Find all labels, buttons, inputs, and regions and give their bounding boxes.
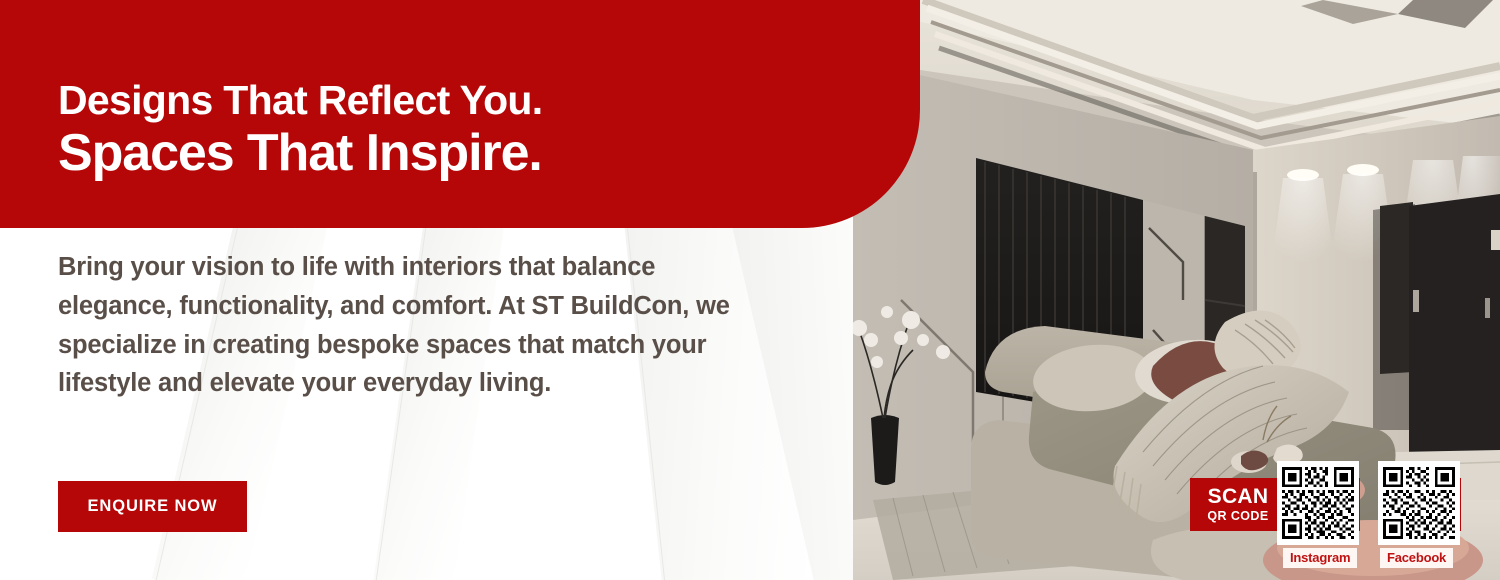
dark-wood-door-right [1409,194,1500,490]
qr-code-facebook[interactable] [1378,461,1460,545]
qr-label-facebook: Facebook [1380,548,1453,568]
body-paragraph: Bring your vision to life with interiors… [58,248,748,403]
headline-block: Designs That Reflect You. Spaces That In… [58,78,542,182]
dark-wood-door-left [1380,202,1413,374]
qr-code-instagram[interactable] [1277,461,1359,545]
qr-code-block: SCAN QR CODE [1190,458,1500,580]
qr-label-instagram: Instagram [1283,548,1357,568]
promotional-banner: Designs That Reflect You. Spaces That In… [0,0,1500,580]
enquire-now-button[interactable]: ENQUIRE NOW [58,481,247,532]
qr-code-facebook-icon [1383,466,1455,540]
headline-line-1: Designs That Reflect You. [58,78,542,122]
scan-qr-banner: SCAN QR CODE [1190,478,1290,531]
headline-line-2: Spaces That Inspire. [58,125,542,182]
scan-word-label: SCAN [1208,486,1269,507]
qr-code-sublabel: QR CODE [1207,510,1268,523]
qr-code-instagram-icon [1282,466,1354,540]
